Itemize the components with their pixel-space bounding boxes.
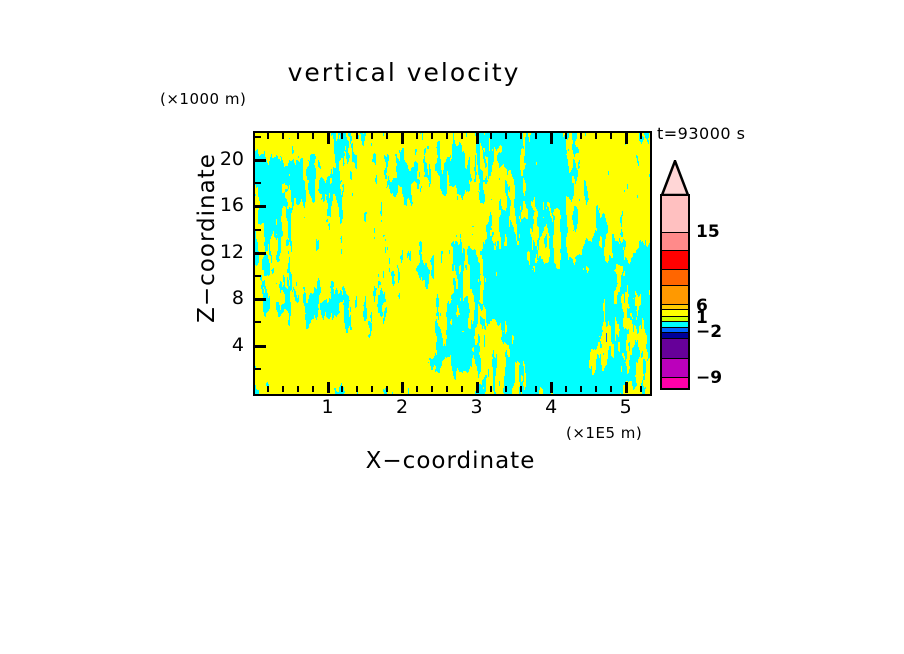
x-axis-minor-tick	[431, 133, 433, 139]
x-axis-minor-tick	[505, 133, 507, 139]
x-axis-minor-tick	[446, 386, 448, 392]
x-axis-minor-tick	[640, 386, 642, 392]
x-axis-minor-tick	[386, 133, 388, 139]
x-axis-major-tick	[625, 382, 628, 393]
x-axis-minor-tick	[610, 133, 612, 139]
x-axis-minor-tick	[461, 386, 463, 392]
x-axis-major-tick	[327, 133, 330, 144]
x-axis-tick-labels: 12345	[253, 396, 648, 424]
x-axis-minor-tick	[341, 386, 343, 392]
figure-canvas: vertical velocity (×1000 m) Z−coordinate…	[0, 0, 904, 654]
x-axis-minor-tick	[416, 133, 418, 139]
x-axis-minor-tick	[520, 386, 522, 392]
x-axis-title: X−coordinate	[253, 448, 648, 474]
y-axis-minor-tick	[255, 229, 261, 231]
x-axis-minor-tick	[416, 386, 418, 392]
colorbar-segment	[662, 309, 688, 316]
y-axis-major-tick	[255, 298, 266, 301]
x-axis-minor-tick	[312, 133, 314, 139]
y-axis-tick-label: 12	[220, 241, 244, 263]
x-axis-minor-tick	[356, 386, 358, 392]
x-axis-minor-tick	[610, 386, 612, 392]
y-axis-tick-labels: 48121620	[196, 131, 244, 392]
x-axis-minor-tick	[595, 386, 597, 392]
x-axis-minor-tick	[490, 133, 492, 139]
x-axis-minor-tick	[371, 133, 373, 139]
x-axis-minor-tick	[580, 133, 582, 139]
x-axis-minor-tick	[490, 386, 492, 392]
x-axis-tick-label: 3	[465, 396, 489, 418]
y-axis-major-tick	[255, 252, 266, 255]
x-axis-minor-tick	[297, 133, 299, 139]
x-axis-minor-tick	[565, 386, 567, 392]
y-axis-tick-label: 4	[232, 334, 244, 356]
x-axis-minor-tick	[356, 133, 358, 139]
colorbar-tick-label: 15	[696, 222, 720, 242]
y-axis-minor-tick	[255, 275, 261, 277]
colorbar-segment	[662, 196, 688, 232]
x-axis-minor-tick	[505, 386, 507, 392]
y-axis-tick-label: 20	[220, 148, 244, 170]
x-axis-minor-tick	[461, 133, 463, 139]
x-axis-minor-tick	[312, 386, 314, 392]
time-annotation: t=93000 s	[657, 124, 746, 143]
colorbar-segment	[662, 232, 688, 251]
colorbar-segments	[660, 194, 690, 390]
x-axis-minor-tick	[520, 133, 522, 139]
x-axis-major-tick	[476, 133, 479, 144]
y-axis-minor-tick	[255, 182, 261, 184]
y-axis-unit-caption: (×1000 m)	[160, 90, 246, 108]
x-axis-minor-tick	[535, 386, 537, 392]
x-axis-minor-tick	[341, 133, 343, 139]
x-axis-major-tick	[327, 382, 330, 393]
x-axis-major-tick	[401, 382, 404, 393]
colorbar-segment	[662, 250, 688, 269]
y-axis-major-tick	[255, 159, 266, 162]
x-axis-major-tick	[550, 382, 553, 393]
y-axis-minor-tick	[255, 368, 261, 370]
x-axis-unit-caption: (×1E5 m)	[566, 424, 642, 442]
contour-field	[255, 133, 650, 394]
x-axis-minor-tick	[595, 133, 597, 139]
x-axis-major-tick	[401, 133, 404, 144]
plot-area[interactable]	[253, 131, 652, 396]
colorbar-segment	[662, 285, 688, 304]
colorbar-segment	[662, 338, 688, 358]
colorbar-segment	[662, 269, 688, 285]
x-axis-major-tick	[476, 382, 479, 393]
y-axis-tick-label: 8	[232, 287, 244, 309]
x-axis-minor-tick	[446, 133, 448, 139]
colorbar-segment	[662, 377, 688, 388]
x-axis-major-tick	[625, 133, 628, 144]
y-axis-tick-label: 16	[220, 194, 244, 216]
colorbar[interactable]: 1561−2−9	[658, 160, 768, 396]
colorbar-segment	[662, 358, 688, 377]
x-axis-tick-label: 2	[390, 396, 414, 418]
page-title: vertical velocity	[0, 58, 856, 87]
x-axis-major-tick	[550, 133, 553, 144]
x-axis-tick-label: 5	[614, 396, 638, 418]
x-axis-tick-label: 4	[539, 396, 563, 418]
x-axis-minor-tick	[297, 386, 299, 392]
colorbar-tick-label: −2	[696, 322, 722, 342]
x-axis-minor-tick	[282, 133, 284, 139]
x-axis-minor-tick	[565, 133, 567, 139]
x-axis-minor-tick	[267, 133, 269, 139]
x-axis-minor-tick	[431, 386, 433, 392]
y-axis-minor-tick	[255, 136, 261, 138]
x-axis-minor-tick	[267, 386, 269, 392]
x-axis-minor-tick	[386, 386, 388, 392]
x-axis-minor-tick	[640, 133, 642, 139]
y-axis-major-tick	[255, 205, 266, 208]
y-axis-minor-tick	[255, 321, 261, 323]
colorbar-arrow-icon	[660, 160, 690, 196]
y-axis-major-tick	[255, 345, 266, 348]
x-axis-minor-tick	[282, 386, 284, 392]
colorbar-tick-label: −9	[696, 368, 722, 388]
x-axis-minor-tick	[535, 133, 537, 139]
colorbar-tick-labels: 1561−2−9	[696, 194, 766, 390]
x-axis-minor-tick	[580, 386, 582, 392]
x-axis-tick-label: 1	[316, 396, 340, 418]
x-axis-minor-tick	[371, 386, 373, 392]
